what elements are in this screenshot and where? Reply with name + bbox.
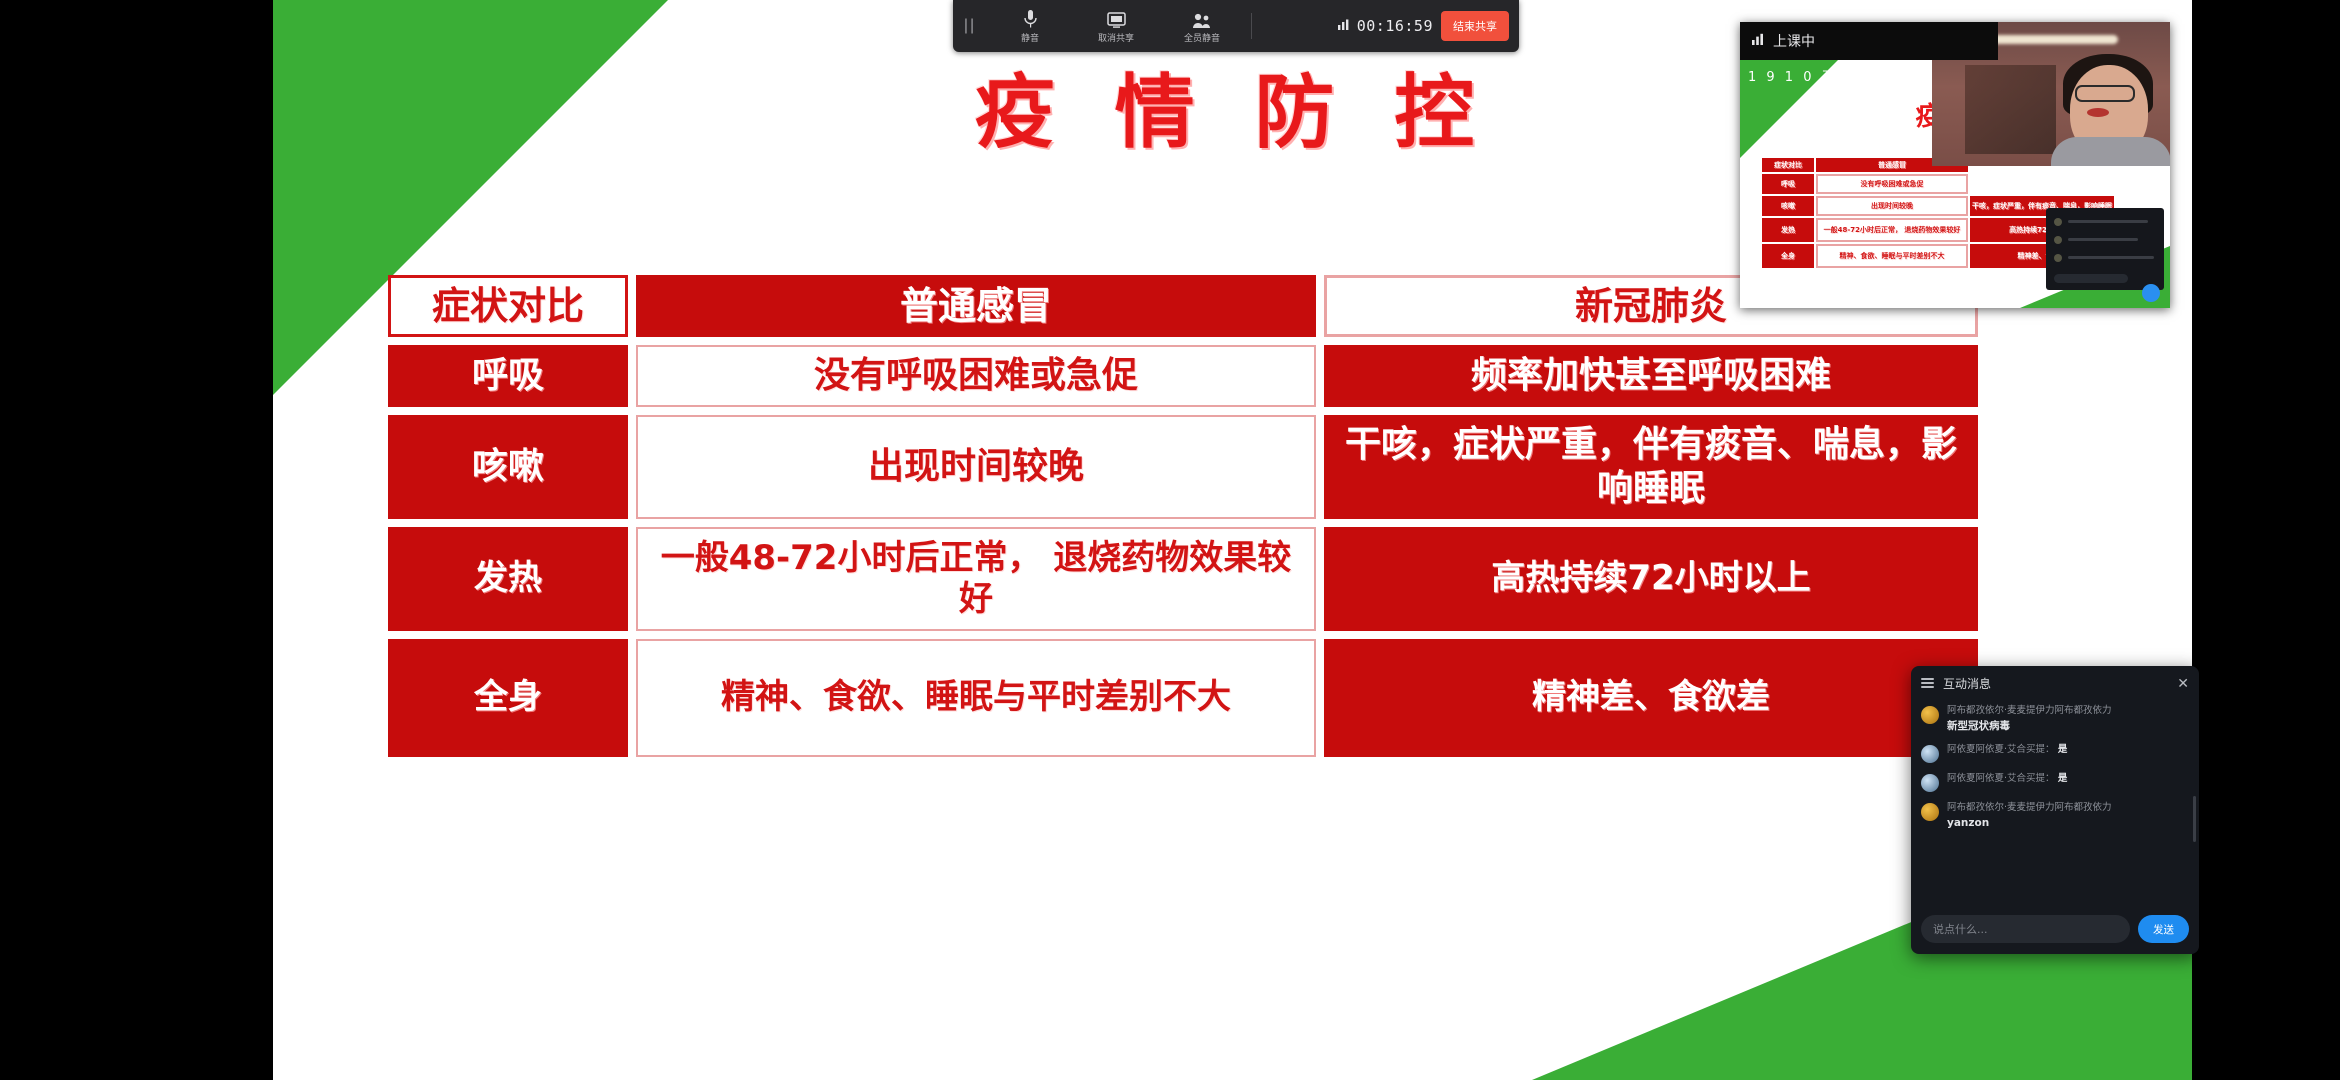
toolbar-drag-handle[interactable]: ||	[953, 17, 987, 35]
hamburger-icon[interactable]	[1921, 676, 1934, 691]
pip-row-label: 咳嗽	[1762, 196, 1814, 216]
row-covid: 精神差、食欲差	[1324, 639, 1978, 757]
pip-row-common-cold: 出现时间较晚	[1816, 196, 1968, 216]
row-common-cold: 一般48-72小时后正常， 退烧药物效果较好	[636, 527, 1316, 631]
end-share-button[interactable]: 结束共享	[1441, 11, 1509, 41]
table-header-common-cold: 普通感冒	[636, 275, 1316, 337]
avatar	[1921, 706, 1939, 724]
row-label: 呼吸	[388, 345, 628, 407]
chat-message: 阿布都孜依尔·麦麦提伊力阿布都孜依力新型冠状病毒	[1921, 704, 2189, 734]
symptom-comparison-table: 症状对比 普通感冒 新冠肺炎 呼吸 没有呼吸困难或急促 频率加快甚至呼吸困难 咳…	[388, 275, 1978, 765]
chat-title: 互动消息	[1943, 675, 2168, 692]
close-icon[interactable]: ✕	[2177, 676, 2189, 690]
table-row: 咳嗽 出现时间较晚 干咳，症状严重，伴有痰音、喘息，影响睡眠	[388, 415, 1978, 519]
row-common-cold: 没有呼吸困难或急促	[636, 345, 1316, 407]
chat-message-meta: 阿依夏阿依夏·艾合买提： 是	[1947, 772, 2067, 792]
row-common-cold: 出现时间较晚	[636, 415, 1316, 519]
mute-all-button-label: 全员静音	[1184, 31, 1220, 44]
signal-bars-icon	[1752, 33, 1766, 49]
pip-row-common-cold: 没有呼吸困难或急促	[1816, 174, 1968, 194]
chat-header: 互动消息 ✕	[1911, 666, 2199, 700]
pip-window[interactable]: 1 9 1 0 王 疫 情 症状对比 普通感冒 呼吸 没有呼吸困难或急促 咳嗽 …	[1740, 22, 2170, 308]
row-covid: 干咳，症状严重，伴有痰音、喘息，影响睡眠	[1324, 415, 1978, 519]
chat-message-meta: 阿布都孜依尔·麦麦提伊力阿布都孜依力yanzon	[1947, 801, 2112, 831]
pip-row-label: 全身	[1762, 244, 1814, 268]
chat-message-meta: 阿依夏阿依夏·艾合买提： 是	[1947, 743, 2067, 763]
meeting-toolbar[interactable]: || 静音 取消共享 全员静音 00:16:59	[953, 0, 1519, 52]
row-covid: 频率加快甚至呼吸困难	[1324, 345, 1978, 407]
toolbar-divider	[1251, 13, 1252, 39]
chat-message-meta: 阿布都孜依尔·麦麦提伊力阿布都孜依力新型冠状病毒	[1947, 704, 2112, 734]
row-common-cold: 精神、食欲、睡眠与平时差别不大	[636, 639, 1316, 757]
stop-share-button[interactable]: 取消共享	[1073, 0, 1159, 52]
pip-chat-thumbnail	[2046, 208, 2164, 290]
stop-share-button-label: 取消共享	[1098, 31, 1134, 44]
chat-send-button[interactable]: 发送	[2138, 915, 2189, 943]
pip-presenter-name: 1 9 1 0 王	[1748, 66, 1838, 85]
avatar	[1921, 803, 1939, 821]
network-status: 00:16:59	[1338, 17, 1433, 35]
webcam-person-glasses	[2075, 85, 2135, 102]
pip-row-label: 呼吸	[1762, 174, 1814, 194]
chat-message: 阿依夏阿依夏·艾合买提： 是	[1921, 743, 2189, 763]
avatar	[1921, 745, 1939, 763]
pip-row-common-cold: 一般48-72小时后正常， 退烧药物效果较好	[1816, 218, 1968, 242]
row-label: 发热	[388, 527, 628, 631]
row-label: 全身	[388, 639, 628, 757]
chat-input[interactable]	[1921, 915, 2130, 943]
screen-share-viewer: 疫 情 防 控 症状对比 普通感冒 新冠肺炎 呼吸 没有呼吸困难或急促 频率加快…	[0, 0, 2340, 1080]
meeting-timer: 00:16:59	[1357, 17, 1433, 35]
avatar	[1921, 774, 1939, 792]
chat-composer: 发送	[1911, 904, 2199, 954]
table-header-symptom: 症状对比	[388, 275, 628, 337]
chat-scrollbar[interactable]	[2193, 796, 2196, 842]
chat-message: 阿布都孜依尔·麦麦提伊力阿布都孜依力yanzon	[1921, 801, 2189, 831]
pip-row-covid	[1970, 174, 2114, 194]
chat-message-list[interactable]: 阿布都孜依尔·麦麦提伊力阿布都孜依力新型冠状病毒 阿依夏阿依夏·艾合买提： 是 …	[1911, 700, 2199, 902]
screen-share-icon	[1107, 9, 1126, 29]
pip-status-label: 上课中	[1773, 31, 1815, 51]
mute-button[interactable]: 静音	[987, 0, 1073, 52]
row-covid: 高热持续72小时以上	[1324, 527, 1978, 631]
mute-button-label: 静音	[1021, 31, 1039, 44]
mute-all-button[interactable]: 全员静音	[1159, 0, 1245, 52]
pip-header-symptom: 症状对比	[1762, 158, 1814, 172]
pip-table-row: 呼吸 没有呼吸困难或急促	[1762, 174, 2114, 194]
pip-chat-fab-icon	[2142, 284, 2160, 302]
table-row: 呼吸 没有呼吸困难或急促 频率加快甚至呼吸困难	[388, 345, 1978, 407]
signal-bars-icon	[1338, 17, 1351, 35]
table-row: 全身 精神、食欲、睡眠与平时差别不大 精神差、食欲差	[388, 639, 1978, 757]
mute-all-icon	[1192, 9, 1212, 29]
webcam-background-chair	[1965, 65, 2055, 154]
webcam-person-torso	[2051, 137, 2170, 166]
microphone-icon	[1024, 9, 1037, 29]
pip-row-label: 发热	[1762, 218, 1814, 242]
pip-status-bar: 上课中	[1740, 22, 1998, 60]
interaction-chat-panel[interactable]: 互动消息 ✕ 阿布都孜依尔·麦麦提伊力阿布都孜依力新型冠状病毒 阿依夏阿依夏·艾…	[1911, 666, 2199, 954]
row-label: 咳嗽	[388, 415, 628, 519]
pip-row-common-cold: 精神、食欲、睡眠与平时差别不大	[1816, 244, 1968, 268]
table-row: 发热 一般48-72小时后正常， 退烧药物效果较好 高热持续72小时以上	[388, 527, 1978, 631]
chat-message: 阿依夏阿依夏·艾合买提： 是	[1921, 772, 2189, 792]
